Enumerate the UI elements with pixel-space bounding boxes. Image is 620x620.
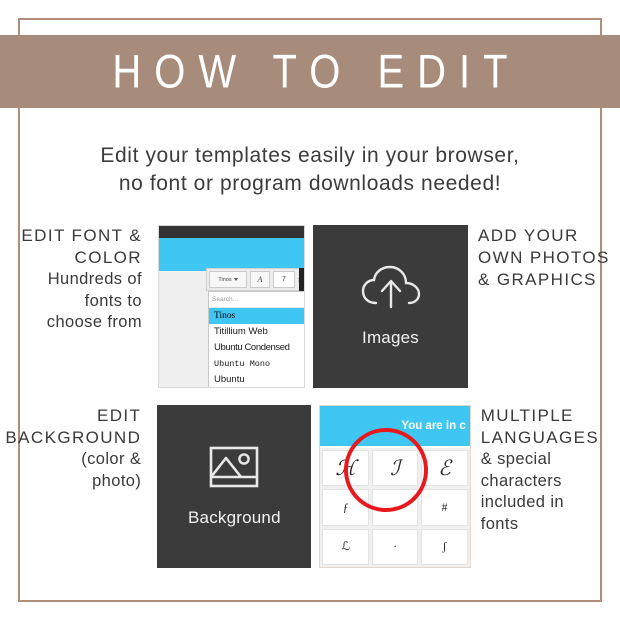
caption-sub: fonts (481, 514, 620, 535)
caption-line: LANGUAGES (481, 427, 620, 449)
caption-line: EDIT FONT & (0, 225, 142, 247)
font-option-tinos[interactable]: Tinos (209, 308, 305, 324)
font-toolbar: Tinos A 7 ▲ ▼ (206, 268, 305, 291)
font-option-ubuntu[interactable]: Ubuntu (209, 372, 305, 388)
caption-line: & GRAPHICS (478, 269, 618, 291)
caption-line: BACKGROUND (0, 427, 141, 449)
font-option-titillium-web[interactable]: Titillium Web (209, 324, 305, 340)
glyph-grid: ℋ ℐ ℰ ƒ · # ℒ · ʃ (320, 448, 469, 567)
glyph-cell[interactable]: · (372, 529, 418, 565)
font-option-ubuntu-mono[interactable]: Ubuntu Mono (209, 356, 305, 372)
font-family-value: Tinos (218, 277, 231, 283)
caption-sub: (color & (0, 449, 141, 470)
glyph-keyboard-panel: You are in c ℋ ℐ ℰ ƒ · # ℒ · ʃ (319, 405, 470, 568)
editor-banner (159, 238, 304, 271)
images-card[interactable]: Images (313, 225, 468, 388)
font-size-input[interactable]: 7 (273, 271, 295, 288)
caption-line: COLOR (0, 247, 142, 269)
caption-line: EDIT (0, 405, 141, 427)
toolbar-edge (299, 268, 304, 291)
glyph-cell[interactable]: ʃ (421, 529, 467, 565)
row-bottom: EDIT BACKGROUND (color & photo) Backgrou… (0, 405, 620, 573)
images-card-label: Images (362, 328, 419, 348)
font-option-list: Tinos Titillium Web Ubuntu Condensed Ubu… (209, 308, 305, 388)
caption-sub: included in (481, 492, 620, 513)
chevron-down-icon (234, 278, 238, 281)
caption-sub: Hundreds of (0, 269, 142, 290)
caption-edit-font-color: EDIT FONT & COLOR Hundreds of fonts to c… (0, 225, 150, 334)
caption-sub: photo) (0, 471, 141, 492)
subtitle-line-1: Edit your templates easily in your brows… (0, 142, 620, 170)
glyph-cell[interactable]: ℰ (421, 450, 467, 486)
font-option-ubuntu-condensed[interactable]: Ubuntu Condensed (209, 340, 305, 356)
caption-sub: choose from (0, 312, 142, 333)
glyph-cell[interactable]: ℒ (322, 529, 368, 565)
caption-sub: fonts to (0, 291, 142, 312)
row-top: EDIT FONT & COLOR Hundreds of fonts to c… (0, 225, 620, 393)
caption-sub: & special (481, 449, 620, 470)
glyph-panel-banner: You are in c (320, 406, 469, 446)
subtitle: Edit your templates easily in your brows… (0, 142, 620, 199)
subtitle-line-2: no font or program downloads needed! (0, 170, 620, 198)
glyph-cell[interactable]: · (372, 489, 418, 525)
cloud-upload-icon (361, 265, 421, 314)
caption-add-photos: ADD YOUR OWN PHOTOS & GRAPHICS (468, 225, 618, 291)
font-dropdown: Search... Tinos Titillium Web Ubuntu Con… (208, 291, 305, 388)
caption-multiple-languages: MULTIPLE LANGUAGES & special characters … (471, 405, 620, 535)
caption-edit-background: EDIT BACKGROUND (color & photo) (0, 405, 149, 492)
glyph-banner-text: You are in c (401, 420, 465, 432)
glyph-cell[interactable]: ƒ (322, 489, 368, 525)
caption-line: MULTIPLE (481, 405, 620, 427)
font-search-input[interactable]: Search... (209, 292, 305, 308)
page-title: HOW TO EDIT (99, 48, 520, 95)
background-card[interactable]: Background (157, 405, 311, 568)
glyph-cell[interactable]: # (421, 489, 467, 525)
caption-line: ADD YOUR (478, 225, 618, 247)
header-band: HOW TO EDIT (0, 35, 620, 108)
glyph-cell[interactable]: ℋ (322, 450, 368, 486)
glyph-cell[interactable]: ℐ (372, 450, 418, 486)
caption-sub: characters (481, 471, 620, 492)
font-family-select[interactable]: Tinos (209, 271, 247, 288)
font-editor-panel: Tinos A 7 ▲ ▼ Search... Tinos Titillium … (158, 225, 305, 388)
editor-titlebar (159, 226, 304, 238)
caption-line: OWN PHOTOS (478, 247, 618, 269)
background-card-label: Background (188, 508, 281, 528)
poster-root: HOW TO EDIT Edit your templates easily i… (0, 0, 620, 620)
font-style-icon[interactable]: A (250, 271, 270, 288)
picture-icon (209, 445, 259, 494)
